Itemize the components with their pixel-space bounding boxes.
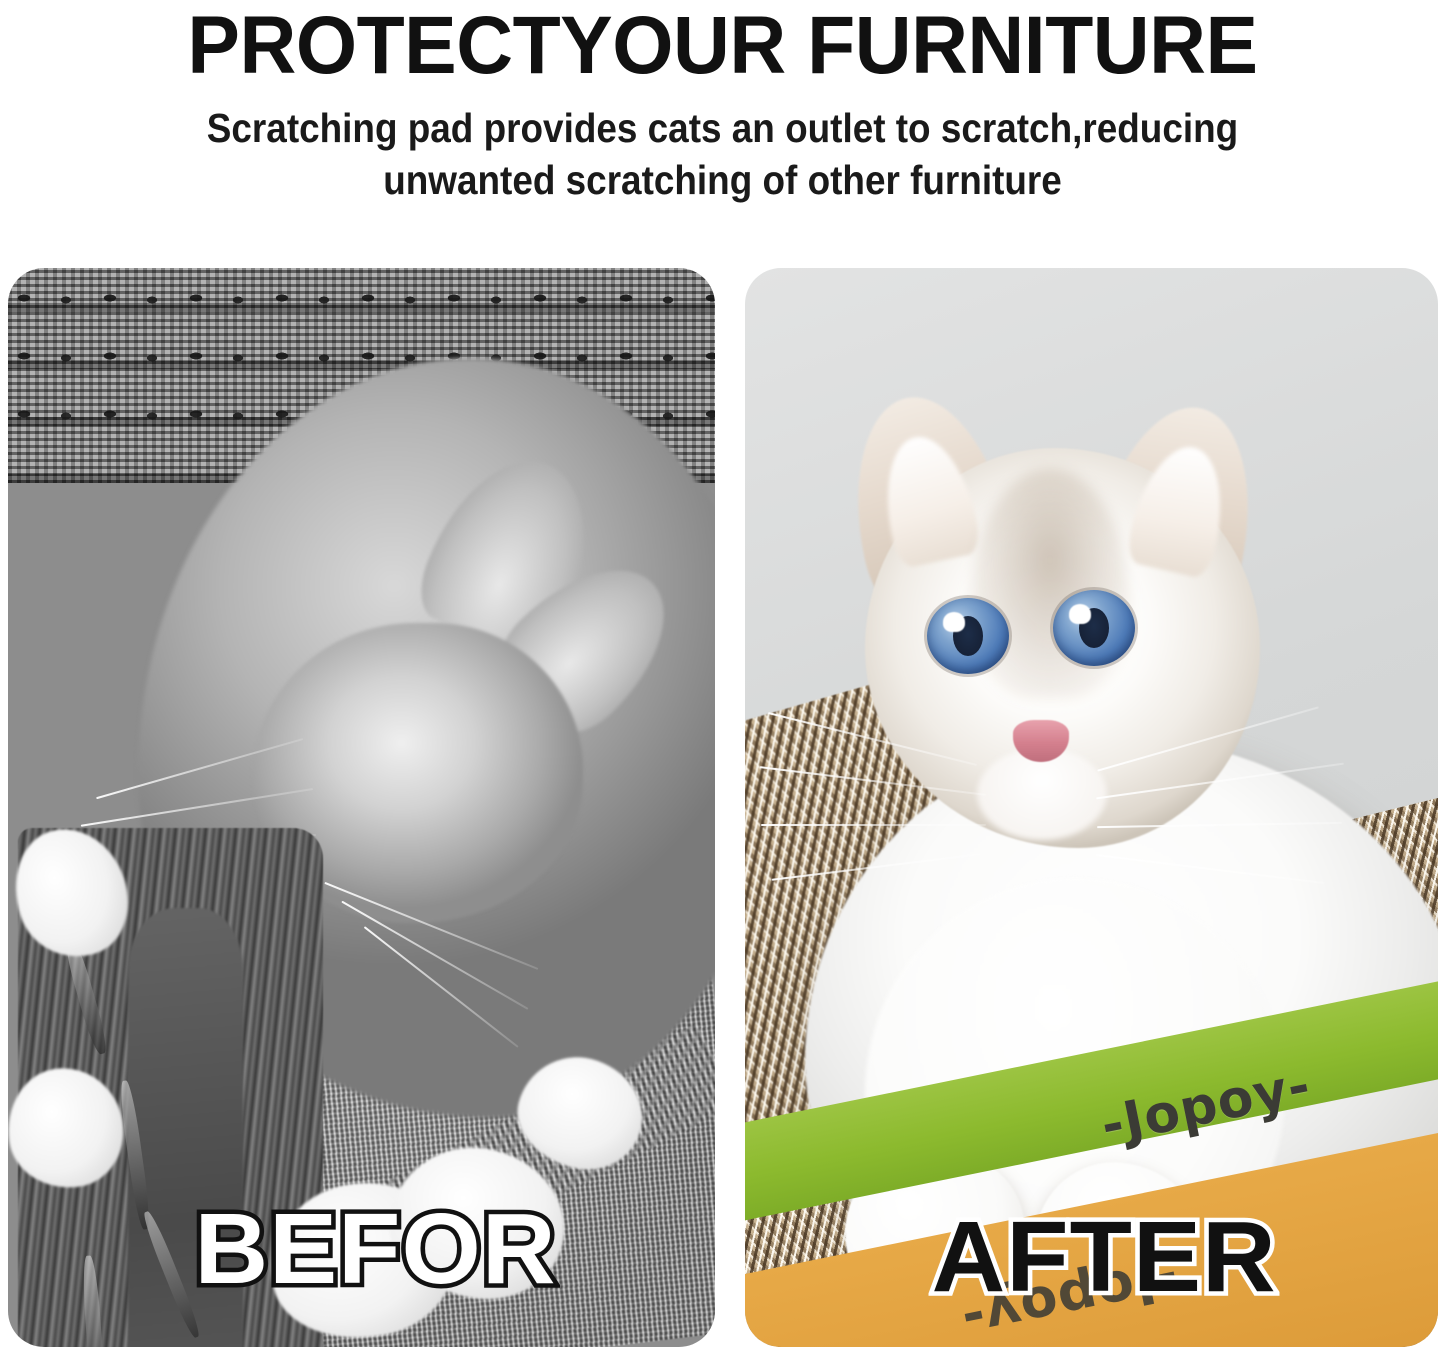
subtitle-line-1: Scratching pad provides cats an outlet t…: [72, 102, 1373, 154]
before-panel: BEFOR: [8, 268, 715, 1347]
after-label: AFTER: [932, 1207, 1277, 1307]
subtitle-line-2: unwanted scratching of other furniture: [72, 154, 1373, 206]
cat-eye-glint-left: [943, 612, 965, 632]
before-label: BEFOR: [194, 1199, 556, 1299]
page-title: PROTECTYOUR FURNITURE: [29, 2, 1416, 90]
comparison-panels: BEFOR: [0, 268, 1445, 1347]
before-photo: [8, 268, 715, 1347]
cat-eye-glint-right: [1069, 604, 1091, 624]
after-panel: -Jopoy- -Jopoy- AFTER: [745, 268, 1438, 1347]
after-photo: -Jopoy- -Jopoy-: [745, 268, 1438, 1347]
header-block: PROTECTYOUR FURNITURE Scratching pad pro…: [0, 0, 1445, 206]
